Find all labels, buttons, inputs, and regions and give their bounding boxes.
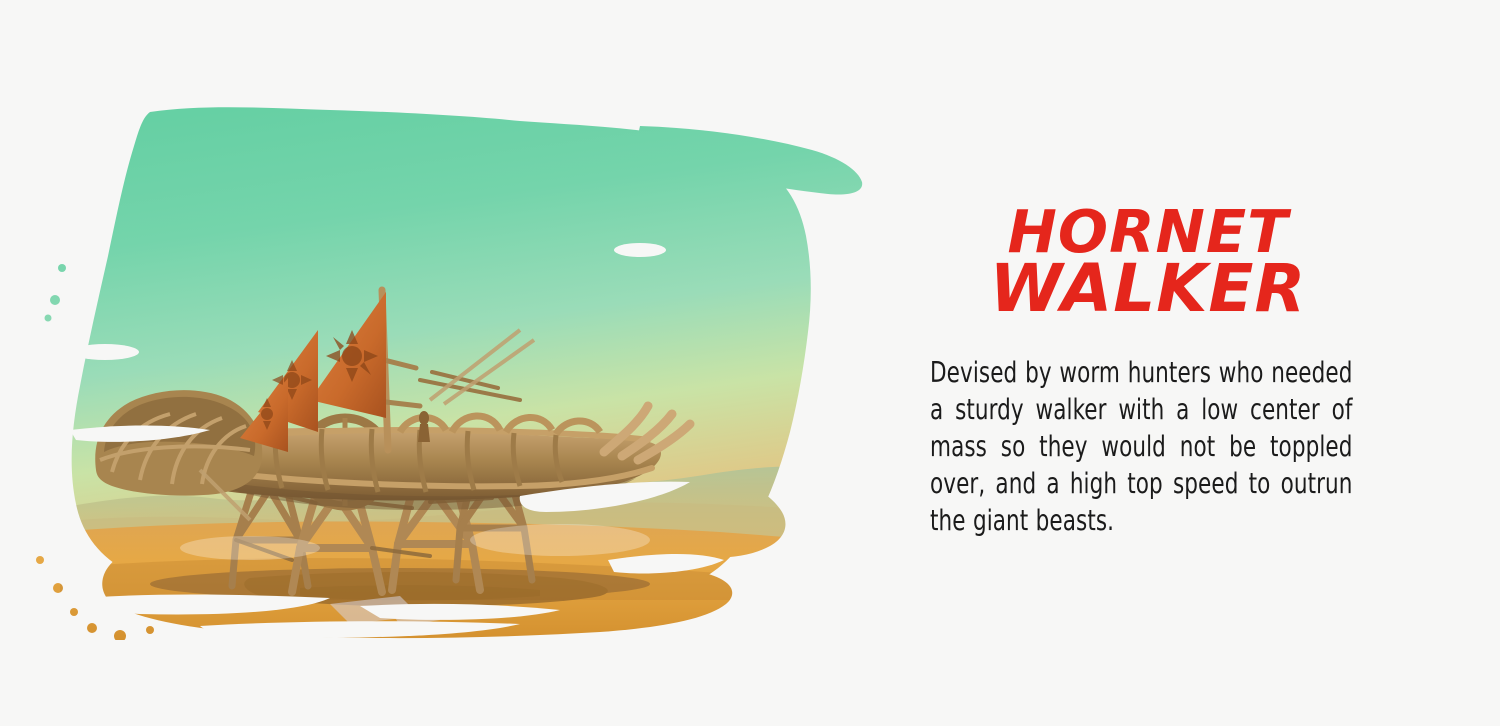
concept-art-page: HORNET WALKER Devised by worm hunters wh…: [0, 0, 1500, 726]
pilot-figure: [418, 411, 430, 442]
page-title: HORNET WALKER: [930, 205, 1360, 320]
info-column: HORNET WALKER Devised by worm hunters wh…: [930, 205, 1440, 539]
description-text: Devised by worm hunters who needed a stu…: [930, 354, 1353, 539]
title-line-walker: WALKER: [936, 259, 1360, 320]
artwork-panel: [0, 0, 900, 726]
hornet-walker-illustration: [0, 0, 900, 726]
